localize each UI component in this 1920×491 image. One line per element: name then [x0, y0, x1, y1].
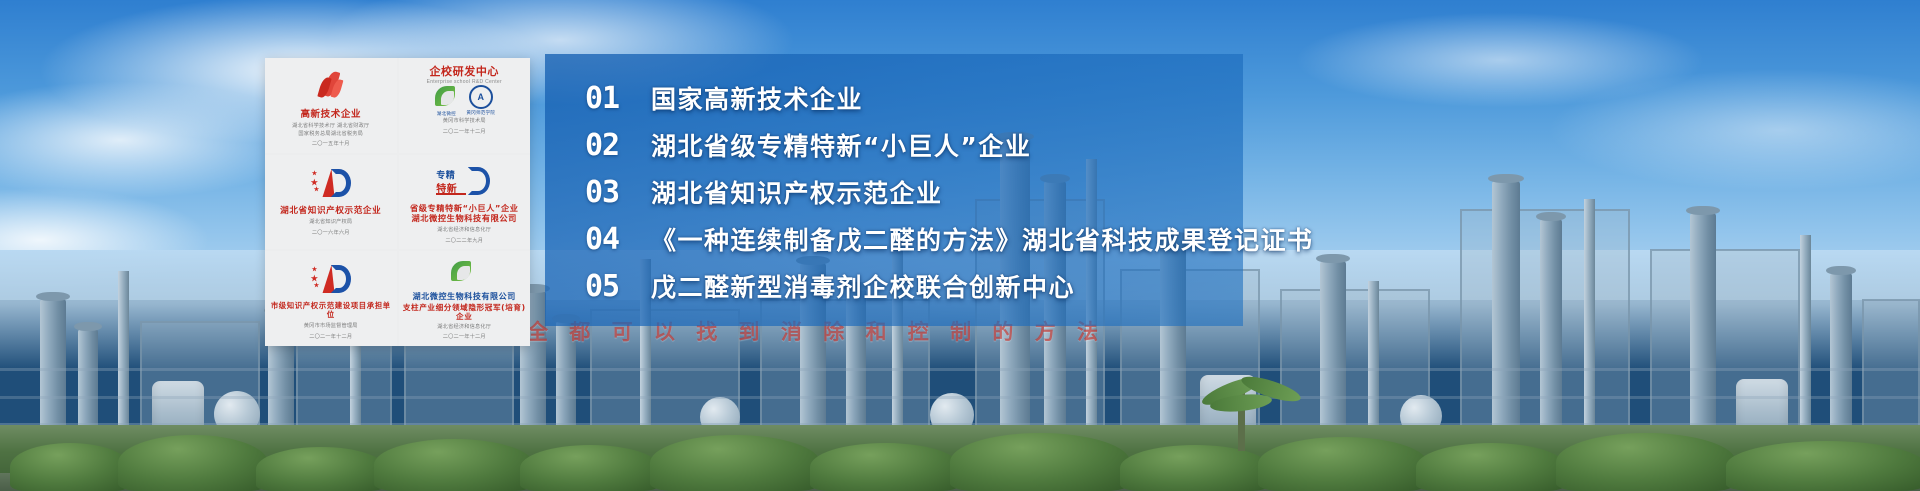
certificate-title: 企校研发中心: [429, 65, 499, 78]
honor-number: 01: [585, 81, 651, 116]
honor-label: 湖北省级专精特新“小巨人”企业: [651, 127, 1031, 163]
certificate-card[interactable]: 企校研发中心 Enterprise school R&D Center 湖北微控…: [399, 58, 531, 153]
certificate-card[interactable]: 高新技术企业 湖北省科学技术厅 湖北省财政厅 国家税务总局湖北省税务局 二〇一五…: [265, 58, 397, 153]
honor-label: 戊二醛新型消毒剂企校联合创新中心: [651, 268, 1075, 304]
certificate-date: 二〇二一年十二月: [443, 334, 486, 342]
certificate-issuer: 湖北省经济和信息化厅: [437, 324, 491, 332]
honor-item: 05 戊二醛新型消毒剂企校联合创新中心: [585, 266, 1835, 306]
logo-caption-right: 黄冈师范学院: [466, 110, 495, 116]
certificate-title: 省级专精特新“小巨人”企业: [410, 204, 519, 214]
certificate-date: 二〇一六年六月: [312, 230, 350, 238]
certificate-card[interactable]: 专精 特新 省级专精特新“小巨人”企业 湖北微控生物科技有限公司 湖北省经济和信…: [399, 155, 531, 250]
honor-item: 02 湖北省级专精特新“小巨人”企业: [585, 125, 1835, 165]
ip-star-icon: ★★★: [311, 258, 351, 300]
honor-number: 05: [585, 269, 651, 304]
honors-list: 01 国家高新技术企业 02 湖北省级专精特新“小巨人”企业 03 湖北省知识产…: [585, 66, 1835, 316]
honor-item: 01 国家高新技术企业: [585, 78, 1835, 118]
certificate-title: 市级知识产权示范建设项目承担单位: [269, 302, 393, 320]
leaf-icon: [433, 84, 459, 110]
university-seal-icon: A: [469, 85, 493, 109]
honor-label: 《一种连续制备戊二醛的方法》湖北省科技成果登记证书: [651, 221, 1314, 257]
certificate-date: 二〇二一年十二月: [443, 129, 486, 137]
zhuanjingtexin-icon: 专精 特新: [436, 162, 492, 202]
certificate-issuer: 湖北省科学技术厅 湖北省财政厅 国家税务总局湖北省税务局: [292, 123, 369, 138]
certificate-card[interactable]: ★★★ 湖北省知识产权示范企业 湖北省知识产权局 二〇一六年六月: [265, 155, 397, 250]
certificate-grid: 高新技术企业 湖北省科学技术厅 湖北省财政厅 国家税务总局湖北省税务局 二〇一五…: [265, 58, 530, 346]
honor-number: 04: [585, 222, 651, 257]
honor-number: 02: [585, 128, 651, 163]
certificate-title: 湖北微控生物科技有限公司: [413, 292, 516, 302]
certificate-subtitle: 湖北微控生物科技有限公司: [412, 214, 517, 224]
honor-item: 03 湖北省知识产权示范企业: [585, 172, 1835, 212]
certificate-date: 二〇二二年九月: [445, 238, 483, 246]
certificate-date: 二〇二一年十二月: [309, 334, 352, 342]
certificate-date: 二〇一五年十月: [312, 141, 350, 149]
certificate-issuer: 黄冈市市场监督管理局: [304, 323, 358, 331]
honor-label: 湖北省知识产权示范企业: [651, 174, 943, 210]
honor-label: 国家高新技术企业: [651, 80, 863, 116]
dual-institution-icon: 湖北微控 A 黄冈师范学院: [433, 85, 495, 115]
certificate-issuer: 黄冈市科学技术局: [443, 118, 486, 126]
certificate-issuer: 湖北省经济和信息化厅: [437, 227, 491, 235]
flame-icon: [318, 65, 344, 107]
ip-star-icon: ★★★: [311, 162, 351, 204]
banner-stage: 全 都 可 以 找 到 消 除 和 控 制 的 方 法 高新技术企业 湖北省科学…: [0, 0, 1920, 491]
leaf-icon: [449, 258, 479, 290]
logo-caption-left: 湖北微控: [437, 111, 456, 117]
certificate-title: 湖北省知识产权示范企业: [280, 206, 381, 216]
honor-item: 04 《一种连续制备戊二醛的方法》湖北省科技成果登记证书: [585, 219, 1835, 259]
certificate-card[interactable]: 湖北微控生物科技有限公司 支柱产业细分领域隐形冠军(培育)企业 湖北省经济和信息…: [399, 251, 531, 346]
certificate-subtitle: 支柱产业细分领域隐形冠军(培育)企业: [403, 303, 527, 321]
certificate-title: 高新技术企业: [300, 109, 361, 120]
certificate-issuer: 湖北省知识产权局: [309, 219, 352, 227]
certificate-card[interactable]: ★★★ 市级知识产权示范建设项目承担单位 黄冈市市场监督管理局 二〇二一年十二月: [265, 251, 397, 346]
honor-number: 03: [585, 175, 651, 210]
